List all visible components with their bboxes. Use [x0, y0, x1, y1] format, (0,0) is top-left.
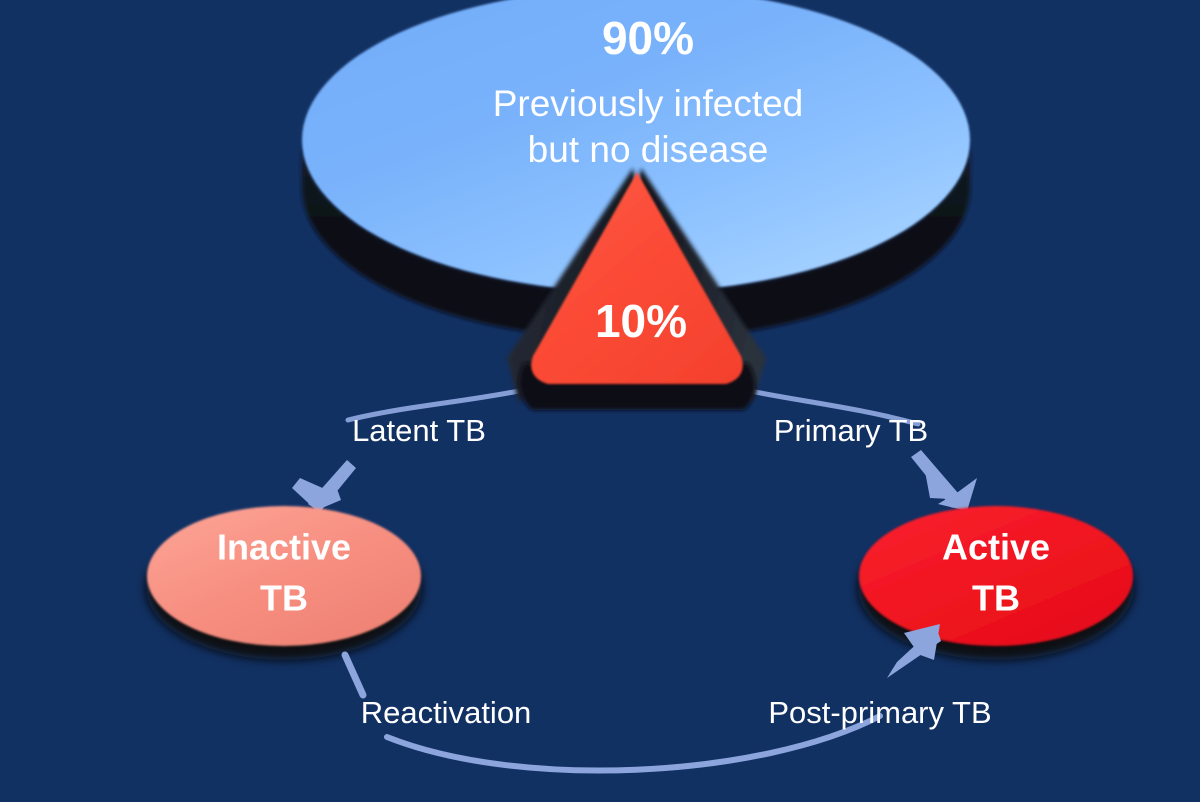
pie-description-line1: Previously infected: [493, 83, 804, 124]
pie-description-line2: but no disease: [528, 129, 769, 170]
edge-label-primary-tb: Primary TB: [774, 413, 928, 448]
pie-percent-90: 90%: [602, 12, 694, 64]
diagram-svg: 90% Previously infected but no disease 1…: [0, 0, 1200, 802]
edge-label-latent-tb: Latent TB: [352, 413, 486, 448]
inactive-tb-label-line2: TB: [260, 578, 308, 619]
edge-label-reactivation: Reactivation: [361, 695, 532, 730]
diagram-canvas: 90% Previously infected but no disease 1…: [0, 0, 1200, 802]
node-inactive-tb[interactable]: Inactive TB: [146, 506, 422, 660]
node-active-tb[interactable]: Active TB: [858, 506, 1134, 660]
wedge-percent-10: 10%: [595, 295, 687, 347]
inactive-tb-label-line1: Inactive: [217, 527, 351, 568]
active-tb-label-line2: TB: [972, 578, 1020, 619]
edge-label-post-primary-tb: Post-primary TB: [768, 695, 991, 730]
active-tb-label-line1: Active: [942, 527, 1050, 568]
